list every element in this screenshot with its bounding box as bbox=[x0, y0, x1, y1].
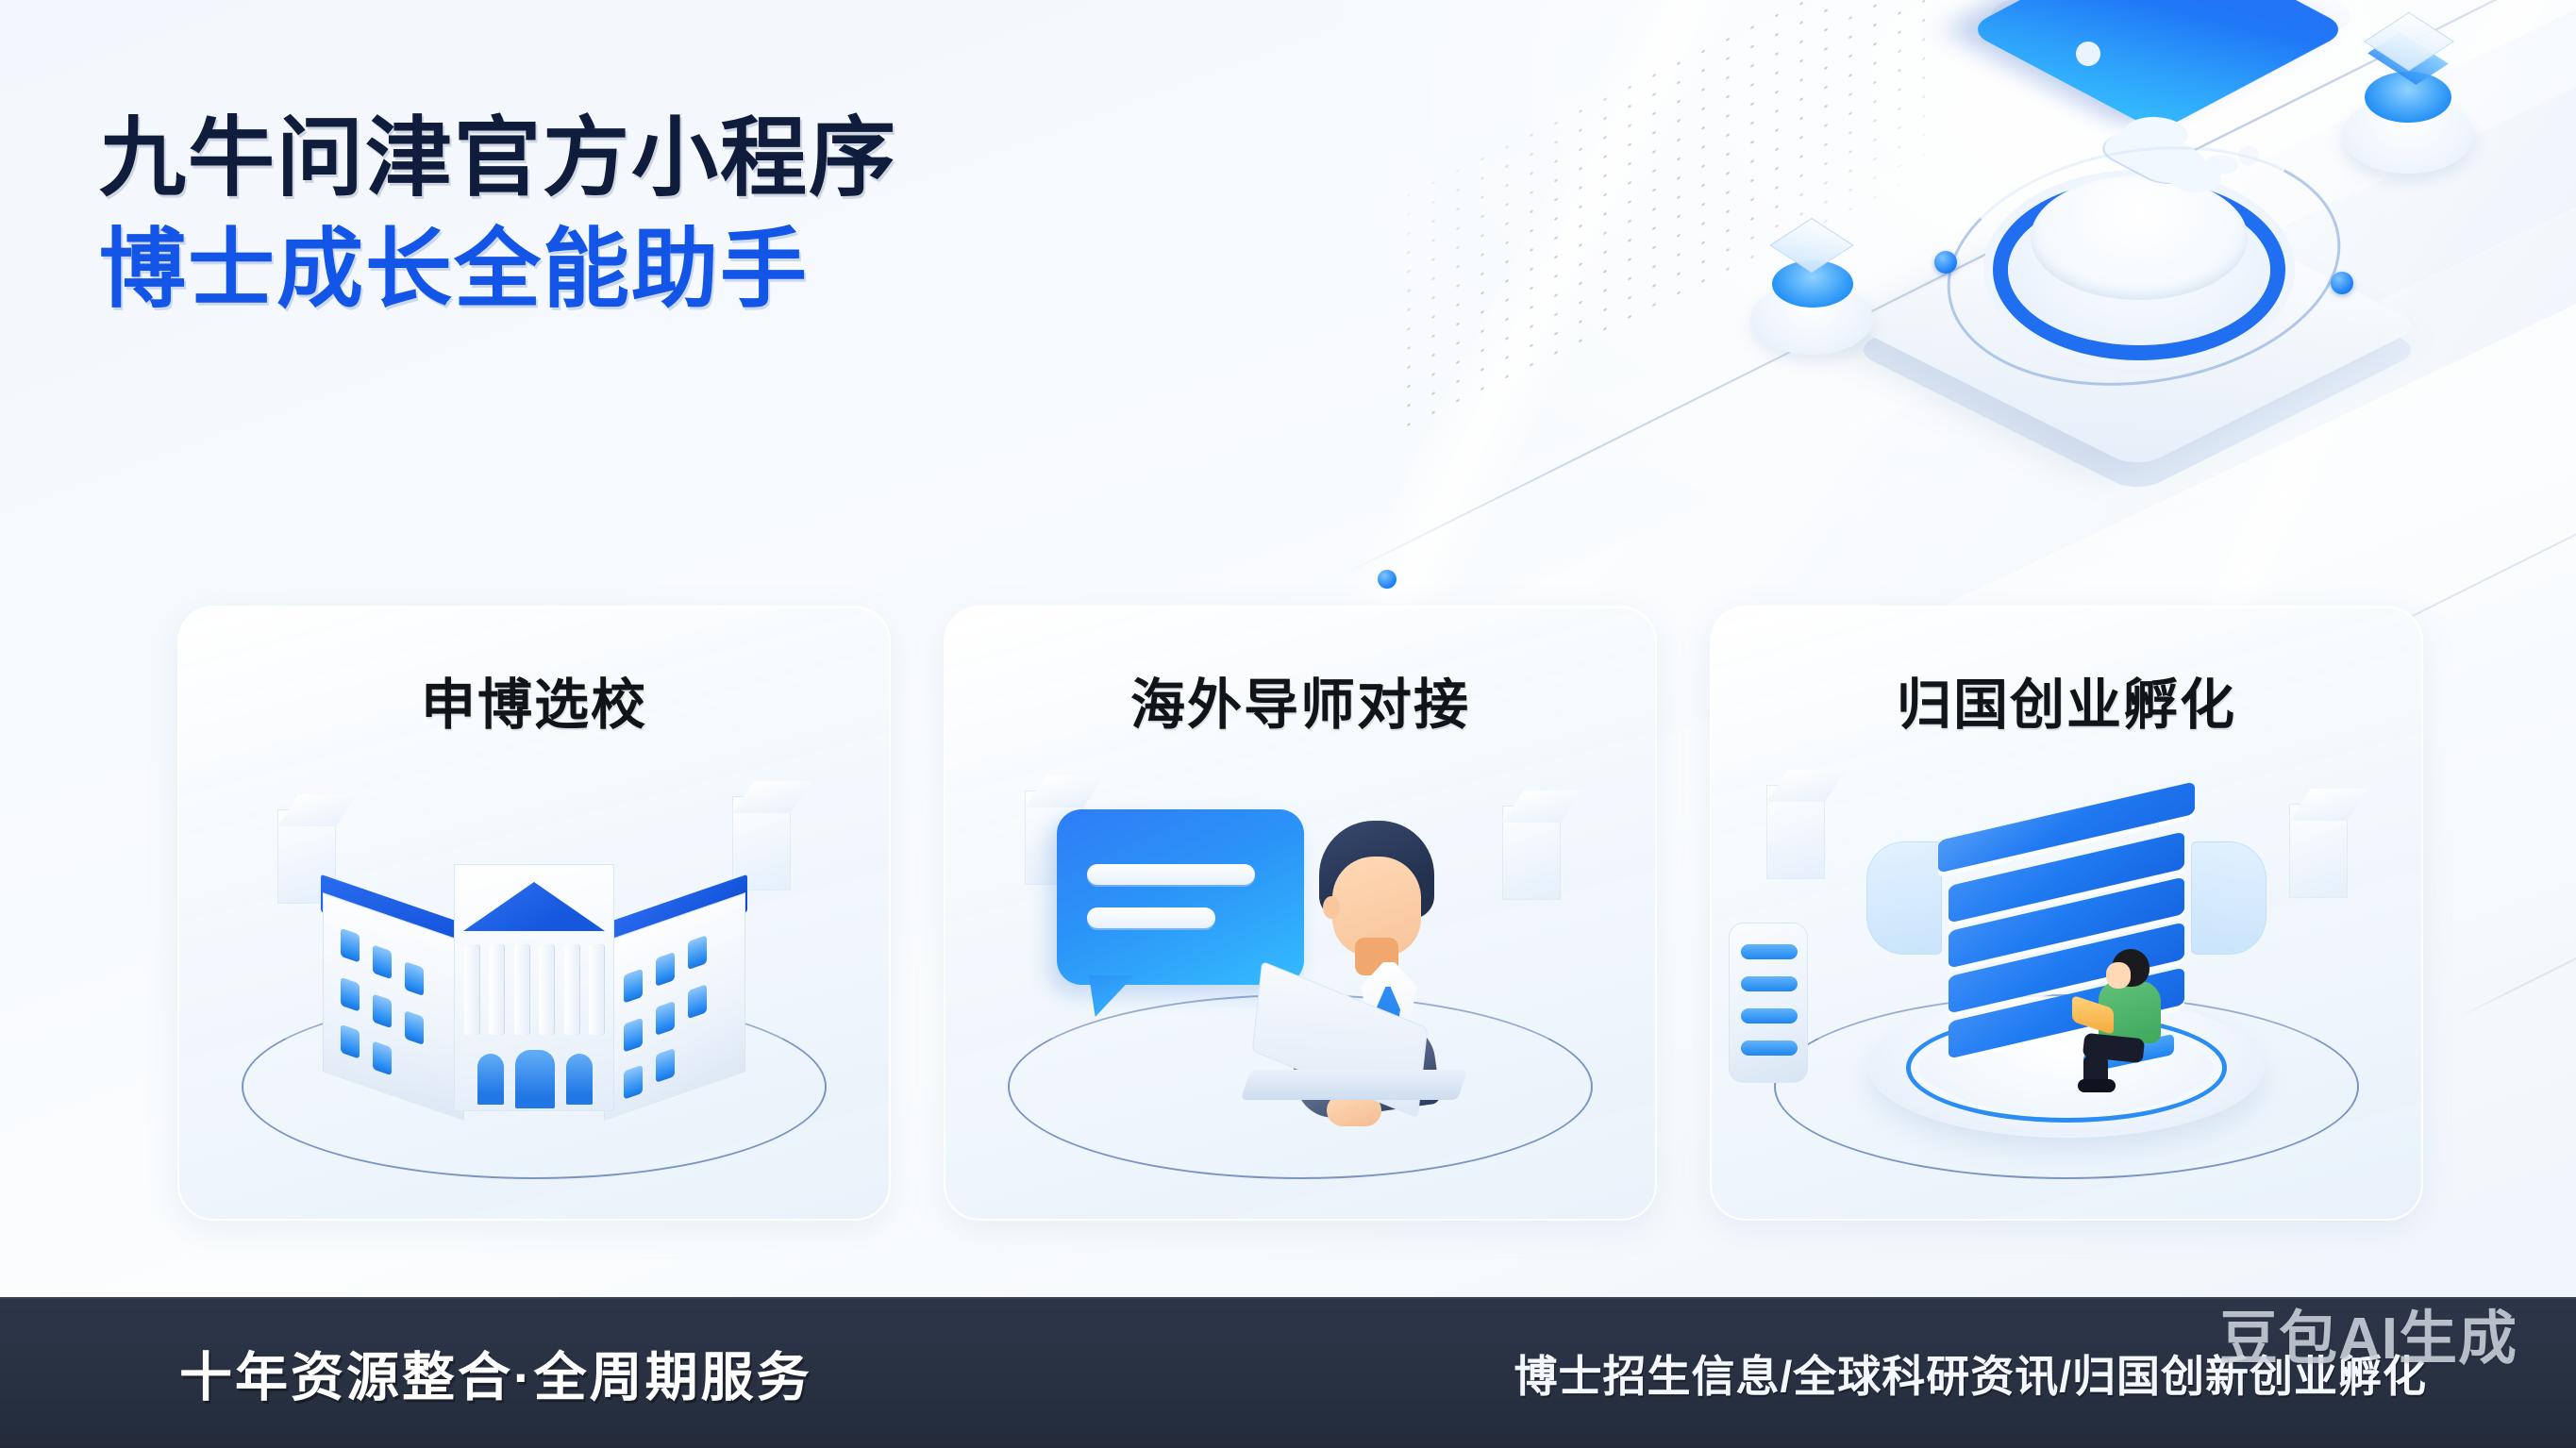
cloud-users-card-icon bbox=[1965, 0, 2351, 132]
card-dot-1 bbox=[2076, 42, 2100, 66]
orbit-node-left bbox=[1934, 251, 1957, 274]
column bbox=[539, 944, 554, 1035]
window bbox=[373, 993, 392, 1028]
shoe bbox=[2078, 1079, 2116, 1092]
window bbox=[405, 1010, 424, 1045]
feature-card-school-selection[interactable]: 申博选校 bbox=[177, 606, 891, 1221]
tower-band bbox=[1741, 1008, 1798, 1024]
mentor-chat-illustration bbox=[945, 775, 1655, 1181]
entrance-arch bbox=[566, 1054, 593, 1105]
startup-incubator-illustration bbox=[1712, 775, 2421, 1181]
window bbox=[341, 1024, 360, 1059]
laptop-base bbox=[1241, 1070, 1467, 1100]
mentor-group bbox=[945, 789, 1655, 1147]
footer-slogan: 十年资源整合·全周期服务 bbox=[179, 1336, 812, 1412]
feature-card-startup-incubation[interactable]: 归国创业孵化 bbox=[1710, 606, 2423, 1221]
page-title: 九牛问津官方小程序 博士成长全能助手 bbox=[99, 106, 1184, 323]
glass-wall-right bbox=[2191, 841, 2267, 955]
hero-illustration bbox=[1765, 0, 2519, 566]
main-hall bbox=[454, 864, 614, 1111]
window bbox=[656, 1001, 675, 1036]
glass-wall-left bbox=[1866, 841, 1942, 955]
seated-person bbox=[2078, 949, 2191, 1090]
poster-canvas: 九牛问津官方小程序 博士成长全能助手 申博选校 bbox=[0, 0, 2576, 1448]
tower-band bbox=[1741, 976, 1798, 991]
window bbox=[624, 969, 643, 1004]
incubator-group bbox=[1712, 783, 2421, 1160]
column bbox=[464, 944, 479, 1035]
chat-bubble-icon bbox=[1057, 809, 1304, 985]
glass-cube-left bbox=[1769, 218, 1853, 273]
bubble-line bbox=[1087, 907, 1215, 928]
building-group bbox=[317, 811, 751, 1123]
column bbox=[514, 944, 529, 1035]
footer-bar: 十年资源整合·全周期服务 博士招生信息/全球科研资讯/归国创新创业孵化 bbox=[0, 1297, 2576, 1448]
window bbox=[624, 1065, 643, 1100]
window bbox=[656, 952, 675, 987]
card-title: 归国创业孵化 bbox=[1712, 660, 2421, 740]
tower-band bbox=[1741, 944, 1798, 959]
bg-accent-dot bbox=[1378, 570, 1397, 589]
face bbox=[2106, 962, 2131, 989]
pediment bbox=[463, 882, 605, 931]
ear bbox=[1323, 896, 1340, 919]
window bbox=[688, 935, 707, 970]
window bbox=[405, 961, 424, 996]
window bbox=[688, 984, 707, 1019]
university-building-illustration bbox=[179, 775, 889, 1181]
title-line-secondary: 博士成长全能助手 bbox=[99, 217, 1184, 323]
window bbox=[341, 977, 360, 1012]
bubble-line bbox=[1087, 864, 1255, 885]
column bbox=[589, 944, 604, 1035]
column bbox=[489, 944, 504, 1035]
window bbox=[624, 1018, 643, 1053]
entrance-arch bbox=[515, 1050, 555, 1108]
entrance-arch bbox=[477, 1054, 504, 1105]
window bbox=[341, 928, 360, 963]
window bbox=[373, 1040, 392, 1075]
column bbox=[564, 944, 579, 1035]
tower-band bbox=[1741, 1040, 1798, 1056]
feature-card-mentor-matching[interactable]: 海外导师对接 bbox=[944, 606, 1657, 1221]
bg-iso-line-4 bbox=[2453, 875, 2576, 1020]
window bbox=[656, 1048, 675, 1083]
ai-watermark: 豆包AI生成 bbox=[2219, 1290, 2517, 1375]
side-tower bbox=[1729, 923, 1808, 1083]
orbit-node-right bbox=[2331, 272, 2353, 294]
card-title: 海外导师对接 bbox=[945, 660, 1655, 740]
card-title: 申博选校 bbox=[179, 660, 889, 740]
window bbox=[373, 944, 392, 979]
column-row bbox=[464, 944, 604, 1035]
title-line-primary: 九牛问津官方小程序 bbox=[99, 106, 1184, 211]
feature-card-list: 申博选校 bbox=[177, 606, 2461, 1221]
